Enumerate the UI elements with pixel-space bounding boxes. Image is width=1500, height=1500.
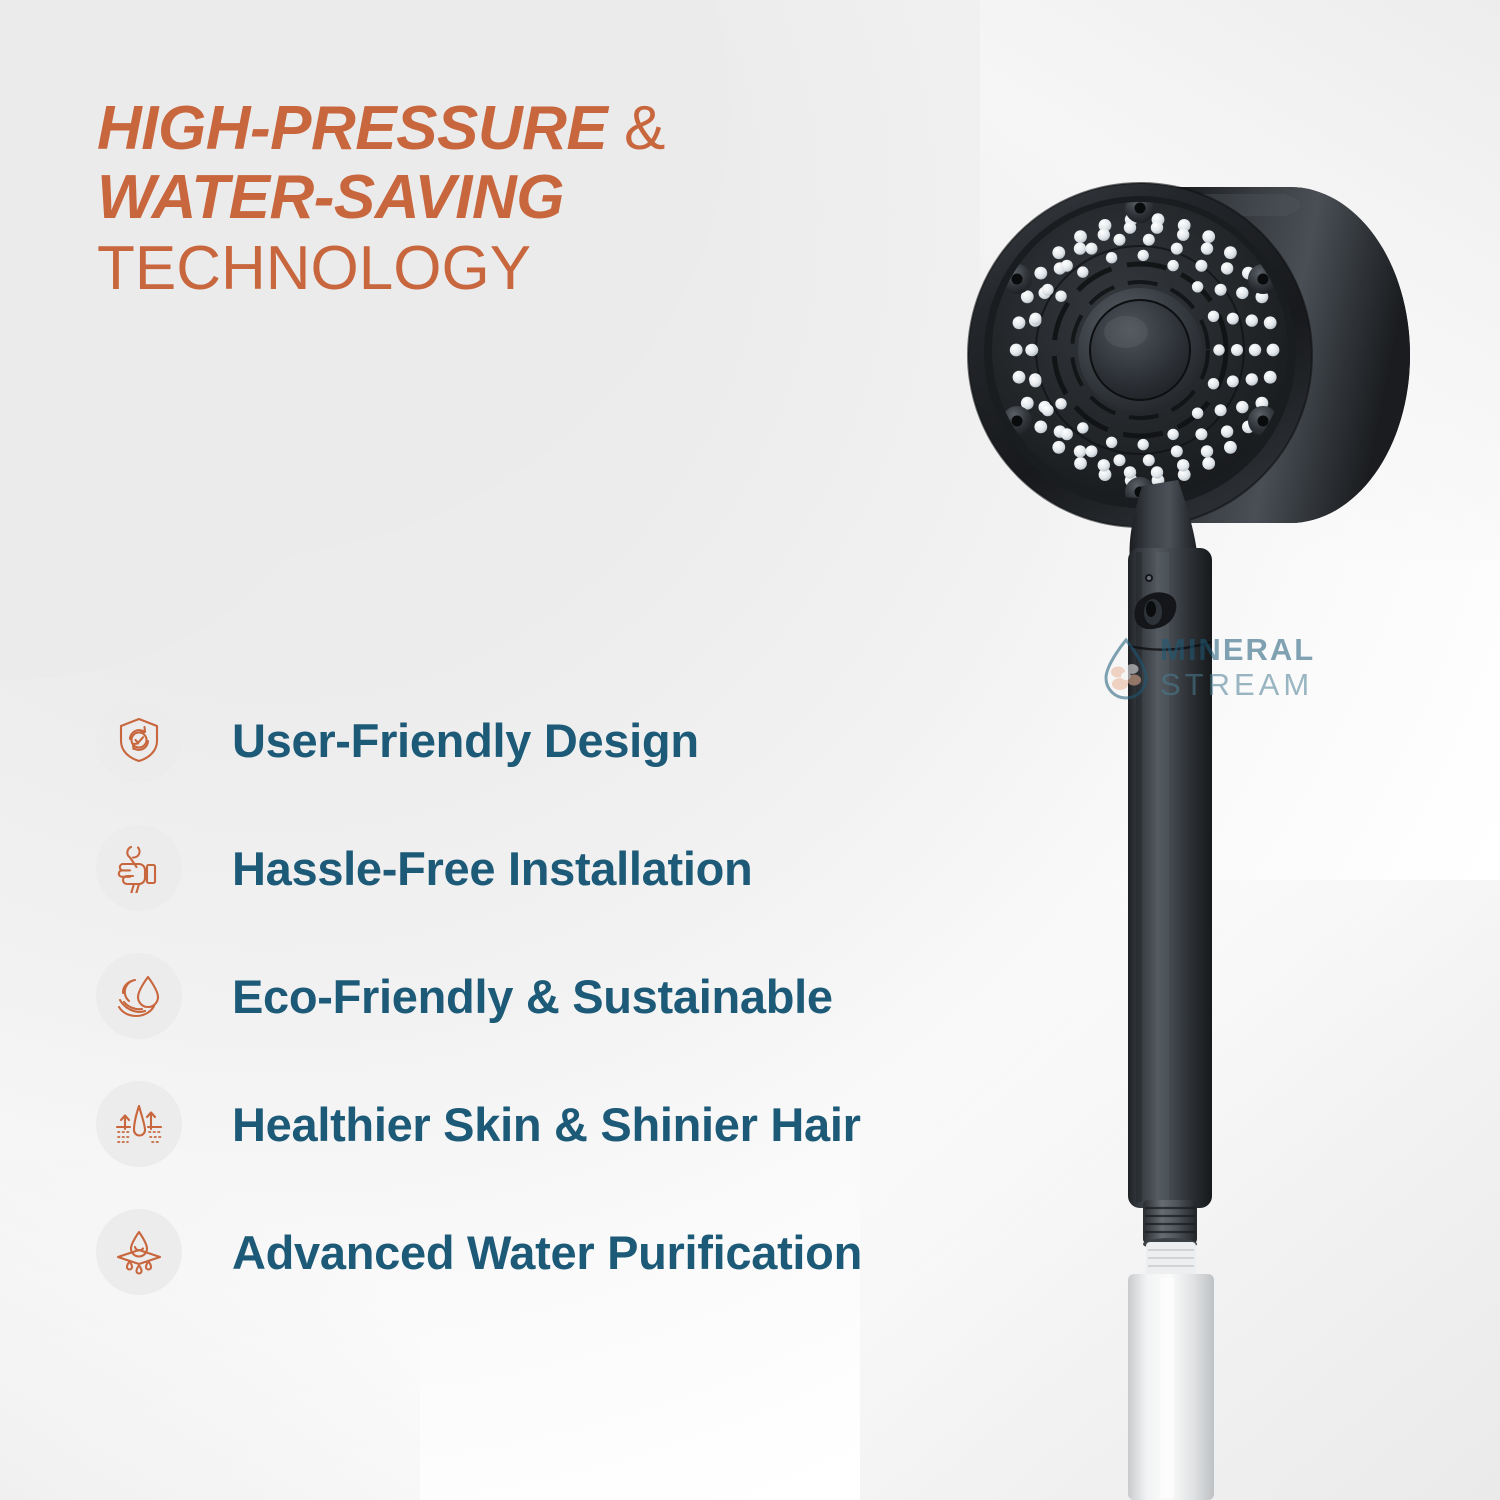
headline-ampersand: & <box>624 94 665 163</box>
list-item: Healthier Skin & Shinier Hair <box>96 1060 1076 1188</box>
hand-wrench-icon <box>114 843 164 893</box>
feature-icon-badge <box>96 825 182 911</box>
feature-label: Eco-Friendly & Sustainable <box>232 969 833 1024</box>
hair-follicle-arrows-icon <box>114 1099 164 1149</box>
feature-icon-badge <box>96 953 182 1039</box>
list-item: Eco-Friendly & Sustainable <box>96 932 1076 1060</box>
feature-icon-badge <box>96 1209 182 1295</box>
headline-line-2: WATER-SAVING <box>97 165 817 232</box>
feature-icon-badge <box>96 1081 182 1167</box>
feature-list: User-Friendly Design Hassle-Free Insta <box>96 676 1076 1316</box>
list-item: User-Friendly Design <box>96 676 1076 804</box>
feature-label: Healthier Skin & Shinier Hair <box>232 1097 861 1152</box>
list-item: Advanced Water Purification <box>96 1188 1076 1316</box>
headline-line-3: TECHNOLOGY <box>97 236 817 303</box>
feature-label: Advanced Water Purification <box>232 1225 862 1280</box>
headline: HIGH-PRESSURE & WATER-SAVING TECHNOLOGY <box>97 96 817 303</box>
water-filter-drops-icon <box>114 1227 164 1277</box>
shield-refresh-check-icon <box>114 715 164 765</box>
feature-label: Hassle-Free Installation <box>232 841 752 896</box>
infographic-canvas: HIGH-PRESSURE & WATER-SAVING TECHNOLOGY <box>0 0 1500 1500</box>
feature-label: User-Friendly Design <box>232 713 699 768</box>
feature-icon-badge <box>96 697 182 783</box>
list-item: Hassle-Free Installation <box>96 804 1076 932</box>
headline-line-1: HIGH-PRESSURE & <box>97 96 817 163</box>
hand-water-drop-icon <box>114 971 164 1021</box>
